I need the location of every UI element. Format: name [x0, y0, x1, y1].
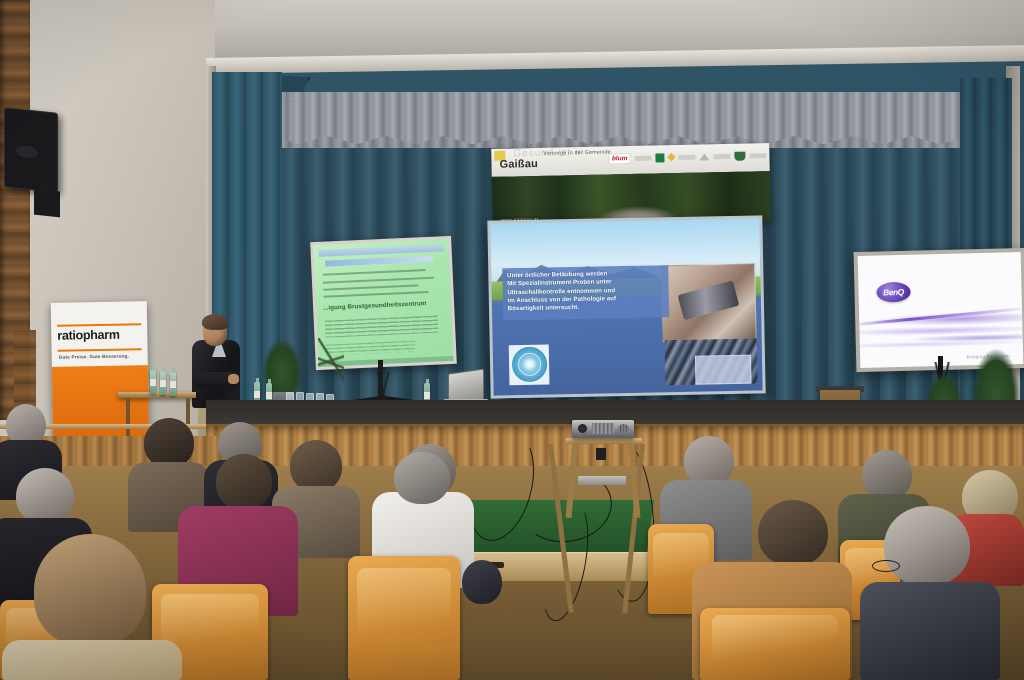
document-header-line — [325, 256, 433, 267]
banner-subtitle: Vorsorge in der Gemeinde — [543, 149, 611, 156]
banner-municipality: Gaißau — [499, 158, 538, 171]
water-bottle — [150, 370, 156, 394]
audience-chair — [348, 556, 460, 680]
ratiopharm-tagline: Gute Preise. Gute Besserung. — [59, 353, 130, 359]
audience-head — [16, 468, 74, 524]
sponsor-bar-logo — [634, 155, 651, 160]
audience-head — [884, 506, 970, 586]
slide-circular-emblem — [509, 344, 550, 385]
document-title-bar — [319, 244, 443, 257]
projector-mount-bracket — [596, 448, 606, 460]
audience-body — [2, 640, 182, 680]
blum-logo: blum — [609, 153, 631, 164]
slide-procedure-photo — [661, 263, 756, 342]
audience-head — [144, 418, 194, 468]
gaissau-event-banner: Gesund ist in Vorsorge in der Gemeinde G… — [491, 143, 771, 227]
slide-text-panel: Unter örtlicher Betäubung werden Mit Spe… — [502, 265, 669, 320]
audience-head — [462, 560, 502, 604]
sponsor-bar-logo-4 — [749, 153, 766, 158]
side-table-left-leg-1 — [126, 398, 130, 438]
projector-lens-icon — [578, 424, 587, 433]
main-projection-screen: Unter örtlicher Betäubung werden Mit Spe… — [487, 215, 765, 398]
sponsor-bar-logo-2 — [678, 154, 695, 159]
projector-control-panel — [592, 423, 614, 434]
ratiopharm-rule-bottom — [58, 348, 142, 351]
green-square-logo — [655, 153, 664, 162]
audience-head — [758, 500, 828, 566]
presenter-hand — [228, 374, 239, 384]
gaissau-crest-icon — [734, 151, 745, 160]
conference-photo-scene: Gesund ist in Vorsorge in der Gemeinde G… — [0, 0, 1024, 680]
benq-wave-graphic — [859, 297, 1023, 352]
audience-head — [34, 534, 146, 646]
audience-body — [860, 582, 1000, 680]
speaker-bracket — [34, 189, 60, 218]
yellow-diamond-logo — [667, 153, 675, 161]
audience-head — [290, 440, 342, 492]
sponsor-bar-logo-3 — [713, 153, 730, 158]
water-bottle — [170, 372, 176, 396]
audience-chair — [700, 608, 850, 680]
ratiopharm-wordmark: ratiopharm — [57, 328, 120, 343]
eyeglasses-icon — [872, 560, 900, 572]
projector-vent-icon — [618, 424, 629, 433]
audience-head — [862, 450, 912, 500]
slide-line-5: Bösartigkeit untersucht. — [508, 303, 664, 314]
slide-info-box — [695, 354, 751, 385]
ratiopharm-rule-top — [57, 323, 141, 326]
audience-head — [684, 436, 734, 486]
audience-head — [216, 454, 272, 510]
benq-logo-text: BenQ — [883, 287, 904, 298]
presenter-hair — [202, 314, 228, 330]
document-paragraph-1 — [325, 315, 439, 337]
ladder-top-platform — [566, 438, 642, 444]
water-bottle — [160, 371, 166, 395]
document-heading: ...igung Brustgesundheitszentrum — [323, 300, 427, 312]
plant-left-foreground — [318, 338, 344, 384]
ladder-step — [578, 476, 626, 485]
audience-head — [394, 452, 450, 504]
banner-sponsor-logos: blum — [609, 146, 767, 167]
mountain-logo-icon — [699, 153, 709, 160]
